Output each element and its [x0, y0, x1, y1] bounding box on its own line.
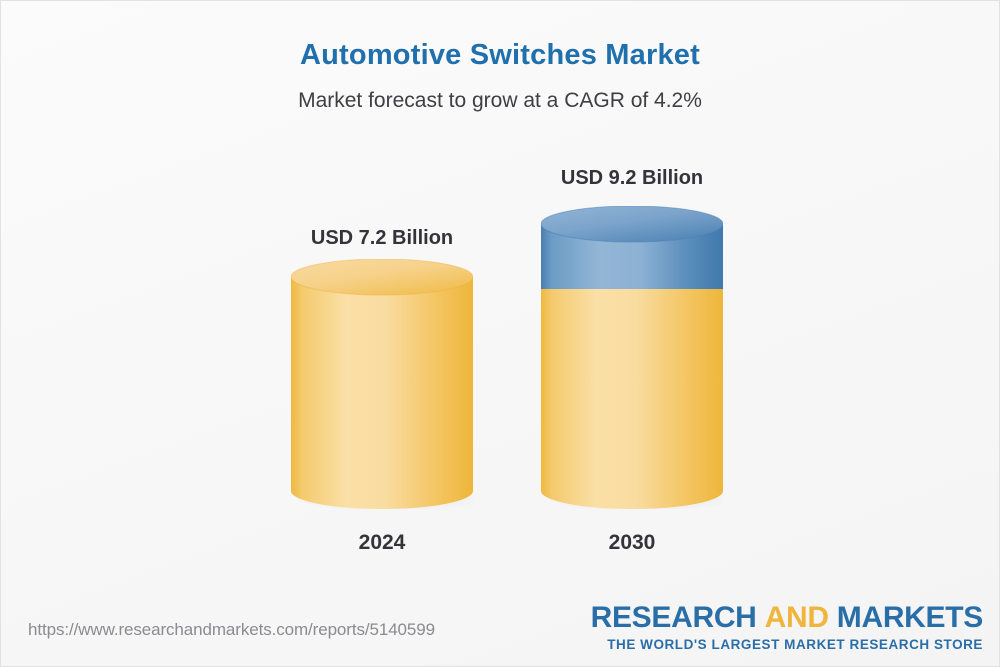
source-url-link[interactable]: https://www.researchandmarkets.com/repor…: [28, 620, 435, 640]
logo-wordmark: RESEARCH AND MARKETS: [591, 602, 983, 634]
category-label-2024: 2024: [251, 531, 513, 555]
logo-word-markets: MARKETS: [837, 601, 983, 634]
chart-page: Automotive Switches Market Market foreca…: [0, 0, 1000, 667]
logo-tagline: THE WORLD'S LARGEST MARKET RESEARCH STOR…: [591, 637, 983, 652]
researchandmarkets-logo[interactable]: RESEARCH AND MARKETS THE WORLD'S LARGEST…: [591, 602, 983, 652]
cylinder-2030: [541, 206, 723, 509]
bar-value-label-2024: USD 7.2 Billion: [251, 227, 513, 250]
cylinder-2030-svg: [541, 206, 723, 509]
footer: https://www.researchandmarkets.com/repor…: [1, 594, 999, 666]
category-label-2030: 2030: [501, 531, 763, 555]
cylinder-2024-svg: [291, 259, 473, 509]
bar-value-label-2030: USD 9.2 Billion: [501, 167, 763, 190]
cylinder-2024: [291, 259, 473, 509]
plot-area: USD 7.2 Billion: [1, 1, 1000, 601]
logo-word-research: RESEARCH: [591, 601, 757, 634]
logo-word-and: AND: [765, 601, 829, 634]
